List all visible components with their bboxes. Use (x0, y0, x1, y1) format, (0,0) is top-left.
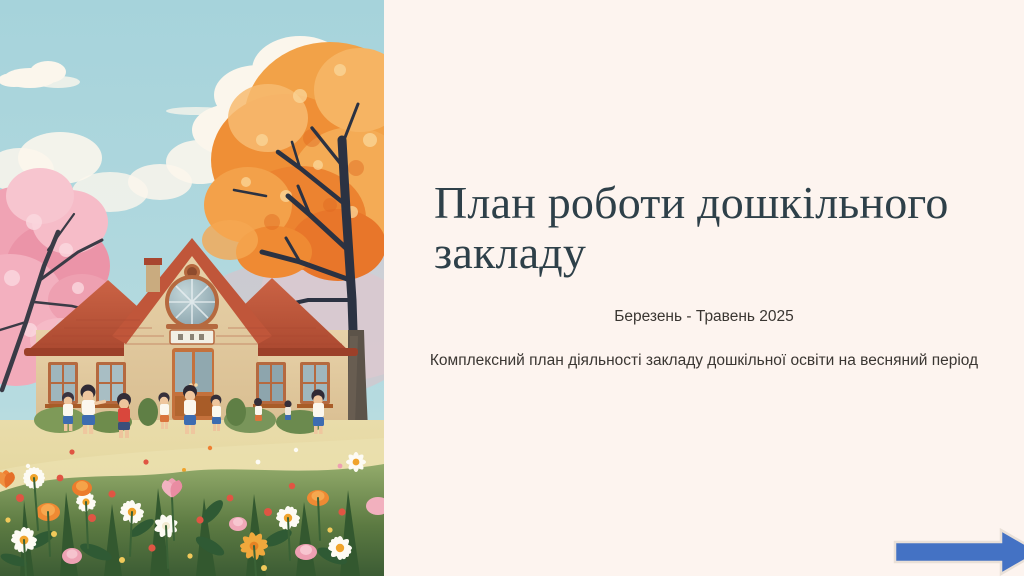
pink-flower (295, 544, 317, 560)
daisy (346, 452, 366, 472)
presentation-slide: План роботи дошкільного закладу Березень… (0, 0, 1024, 576)
pink-flower (229, 517, 247, 531)
child (254, 398, 262, 421)
chimney (146, 262, 160, 292)
slide-date-range: Березень - Травень 2025 (404, 306, 1004, 328)
orange-flower (72, 480, 92, 496)
next-slide-arrow[interactable] (893, 528, 1024, 576)
kindergarten-illustration (0, 0, 384, 576)
arrow-right-icon (895, 530, 1024, 574)
slide-text-panel: План роботи дошкільного закладу Березень… (384, 0, 1024, 576)
child (284, 400, 291, 420)
slide-description: Комплексний план діяльності закладу дошк… (414, 348, 994, 373)
pink-flower (62, 548, 82, 564)
page-title: План роботи дошкільного закладу (434, 178, 974, 278)
